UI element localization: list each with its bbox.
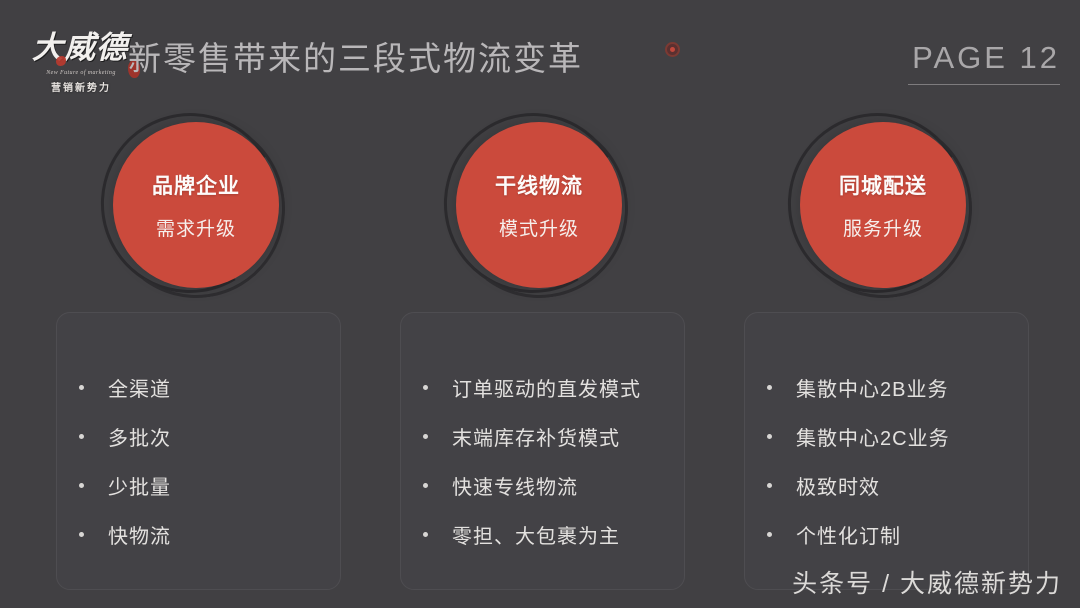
stage-circle-1: 品牌企业 需求升级 xyxy=(97,110,297,310)
logo-sub-text: 营销新势力 xyxy=(22,79,140,94)
list-item: 订单驱动的直发模式 xyxy=(423,363,674,412)
list-item-label: 极致时效 xyxy=(796,471,880,500)
list-item-label: 多批次 xyxy=(108,422,171,451)
list-item-label: 末端库存补货模式 xyxy=(452,422,620,451)
list-item-label: 集散中心2C业务 xyxy=(796,422,950,451)
detail-box-1: 全渠道 多批次 少批量 快物流 xyxy=(56,312,341,590)
list-item: 快速专线物流 xyxy=(423,461,674,510)
bullet-list: 订单驱动的直发模式 末端库存补货模式 快速专线物流 零担、大包裹为主 xyxy=(423,363,674,559)
list-item: 多批次 xyxy=(79,412,330,461)
list-item: 集散中心2B业务 xyxy=(767,363,1018,412)
stage-title: 同城配送 xyxy=(839,170,927,200)
stage-subtitle: 模式升级 xyxy=(499,214,579,241)
slide-header: 大威德 New Future of marketing 营销新势力 新零售带来的… xyxy=(0,0,1080,105)
list-item: 末端库存补货模式 xyxy=(423,412,674,461)
bullet-dot-icon xyxy=(423,434,428,439)
list-item: 零担、大包裹为主 xyxy=(423,510,674,559)
title-dot-icon xyxy=(665,42,680,57)
list-item: 快物流 xyxy=(79,510,330,559)
bullet-dot-icon xyxy=(423,385,428,390)
bullet-dot-icon xyxy=(79,385,84,390)
page-number-rule xyxy=(908,84,1060,85)
bullet-dot-icon xyxy=(423,532,428,537)
detail-box-2: 订单驱动的直发模式 末端库存补货模式 快速专线物流 零担、大包裹为主 xyxy=(400,312,685,590)
logo-main-text: 大威德 xyxy=(14,26,146,70)
stage-circle-3: 同城配送 服务升级 xyxy=(784,110,984,310)
list-item: 集散中心2C业务 xyxy=(767,412,1018,461)
bullet-dot-icon xyxy=(767,434,772,439)
bullet-dot-icon xyxy=(79,483,84,488)
list-item: 个性化订制 xyxy=(767,510,1018,559)
list-item-label: 全渠道 xyxy=(108,373,171,402)
stage-subtitle: 需求升级 xyxy=(156,214,236,241)
page-title: 新零售带来的三段式物流变革 xyxy=(128,32,583,80)
stage-title: 干线物流 xyxy=(495,170,583,200)
stage-circle-body: 干线物流 模式升级 xyxy=(456,122,622,288)
stage-subtitle: 服务升级 xyxy=(843,214,923,241)
list-item-label: 个性化订制 xyxy=(796,520,901,549)
list-item-label: 零担、大包裹为主 xyxy=(452,520,620,549)
stage-circle-2: 干线物流 模式升级 xyxy=(440,110,640,310)
bullet-list: 全渠道 多批次 少批量 快物流 xyxy=(79,363,330,559)
brand-logo: 大威德 New Future of marketing 营销新势力 xyxy=(14,26,146,94)
bullet-dot-icon xyxy=(767,532,772,537)
bullet-dot-icon xyxy=(767,385,772,390)
list-item-label: 集散中心2B业务 xyxy=(796,373,948,402)
page-number: PAGE 12 xyxy=(912,40,1060,76)
list-item: 极致时效 xyxy=(767,461,1018,510)
list-item: 全渠道 xyxy=(79,363,330,412)
bullet-dot-icon xyxy=(767,483,772,488)
watermark: 头条号 / 大威德新势力 xyxy=(792,564,1062,600)
list-item-label: 快速专线物流 xyxy=(452,471,578,500)
bullet-list: 集散中心2B业务 集散中心2C业务 极致时效 个性化订制 xyxy=(767,363,1018,559)
stage-title: 品牌企业 xyxy=(152,170,240,200)
list-item: 少批量 xyxy=(79,461,330,510)
stage-circle-body: 同城配送 服务升级 xyxy=(800,122,966,288)
bullet-dot-icon xyxy=(79,434,84,439)
detail-box-3: 集散中心2B业务 集散中心2C业务 极致时效 个性化订制 xyxy=(744,312,1029,590)
list-item-label: 快物流 xyxy=(108,520,171,549)
list-item-label: 少批量 xyxy=(108,471,171,500)
logo-latin-text: New Future of marketing xyxy=(22,70,140,76)
stage-circle-body: 品牌企业 需求升级 xyxy=(113,122,279,288)
list-item-label: 订单驱动的直发模式 xyxy=(452,373,641,402)
bullet-dot-icon xyxy=(79,532,84,537)
bullet-dot-icon xyxy=(423,483,428,488)
